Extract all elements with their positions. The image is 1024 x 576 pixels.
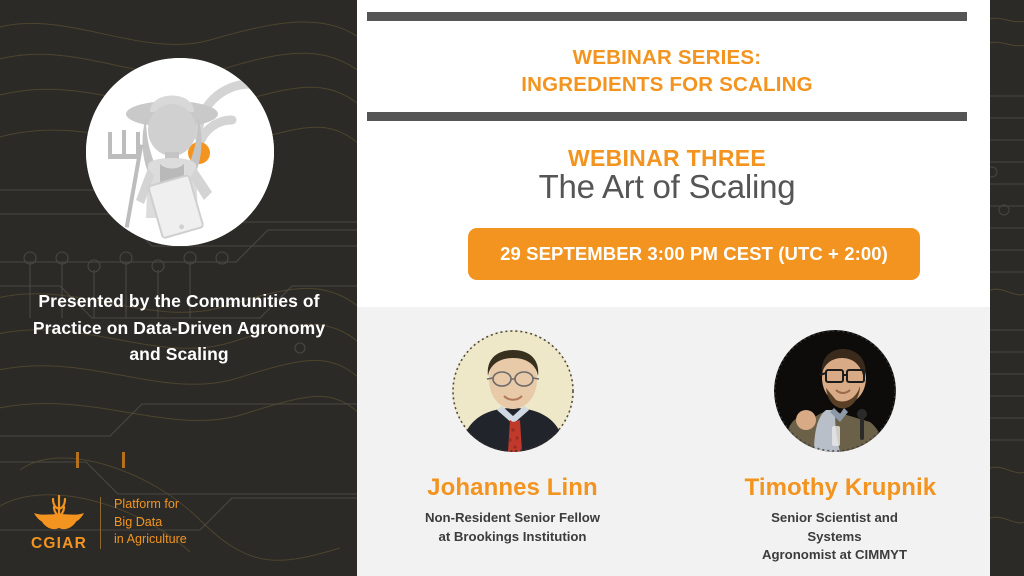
cgiar-wheat-emblem-icon <box>31 492 87 534</box>
farmer-with-tablet-and-wifi-icon <box>86 58 274 246</box>
cgiar-wordmark: CGIAR <box>28 535 90 553</box>
platform-line-1: Platform for <box>114 496 187 513</box>
left-branding-panel: Presented by the Communities of Practice… <box>0 0 357 576</box>
right-circuit-texture <box>990 0 1024 576</box>
avatar <box>774 330 896 452</box>
speaker-title: Senior Scientist and Systems Agronomist … <box>745 509 925 565</box>
series-line-2: INGREDIENTS FOR SCALING <box>367 71 967 98</box>
speaker-title-line-2: at Brookings Institution <box>423 528 603 547</box>
speakers-row: Johannes Linn Non-Resident Senior Fellow… <box>357 330 990 565</box>
avatar <box>452 330 574 452</box>
speaker-title-line-1: Senior Scientist and Systems <box>745 509 925 546</box>
top-divider-rule <box>367 12 967 21</box>
right-edge-panel <box>990 0 1024 576</box>
logo-divider <box>100 497 101 549</box>
speaker-title: Non-Resident Senior Fellow at Brookings … <box>423 509 603 546</box>
series-line-1: WEBINAR SERIES: <box>367 44 967 71</box>
speaker-title-line-1: Non-Resident Senior Fellow <box>423 509 603 528</box>
middle-divider-rule <box>367 112 967 121</box>
platform-name: Platform for Big Data in Agriculture <box>114 496 187 548</box>
cgiar-logo-lockup: CGIAR Platform for Big Data in Agricultu… <box>28 492 187 553</box>
speaker-title-line-2: Agronomist at CIMMYT <box>745 546 925 565</box>
speaker-card: Timothy Krupnik Senior Scientist and Sys… <box>745 330 925 565</box>
presented-by-text: Presented by the Communities of Practice… <box>20 288 338 368</box>
date-time-badge: 29 SEPTEMBER 3:00 PM CEST (UTC + 2:00) <box>468 228 920 280</box>
speaker-name: Timothy Krupnik <box>745 474 925 502</box>
speaker-card: Johannes Linn Non-Resident Senior Fellow… <box>423 330 603 565</box>
webinar-series-heading: WEBINAR SERIES: INGREDIENTS FOR SCALING <box>367 44 967 99</box>
cgiar-mark: CGIAR <box>28 492 90 553</box>
webinar-title: The Art of Scaling <box>367 168 967 206</box>
webinar-promo-graphic: Presented by the Communities of Practice… <box>0 0 1024 576</box>
platform-line-3: in Agriculture <box>114 531 187 548</box>
platform-line-2: Big Data <box>114 514 187 531</box>
speaker-name: Johannes Linn <box>423 474 603 502</box>
